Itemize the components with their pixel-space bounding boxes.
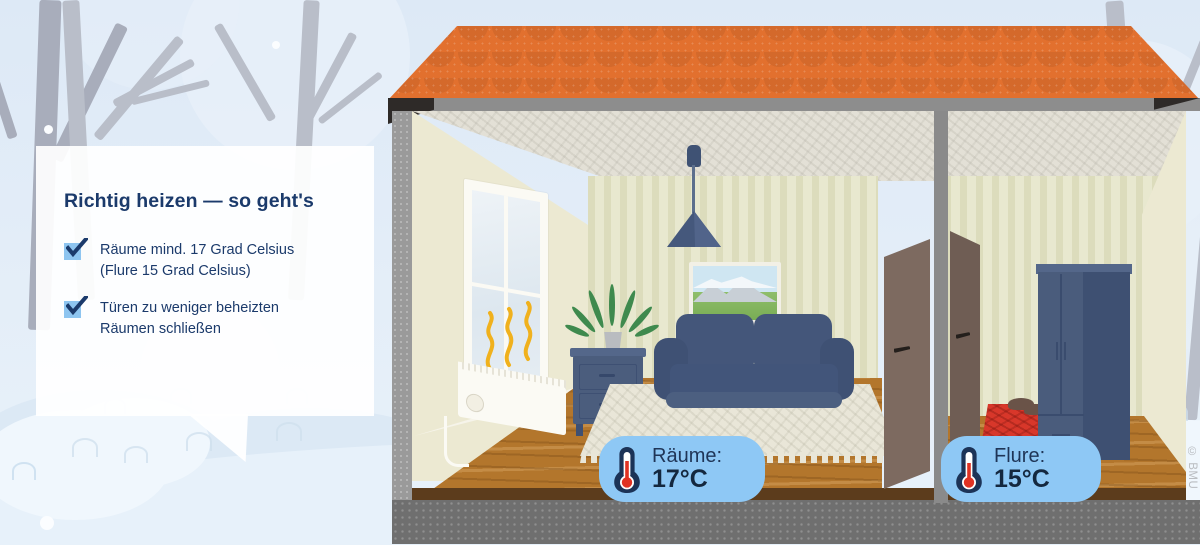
checklist-item-line2: (Flure 15 Grad Celsius): [100, 263, 251, 279]
thermometer-icon: [954, 445, 984, 493]
checkmark-icon: [66, 238, 88, 258]
badge-label: Räume:: [652, 446, 722, 466]
wardrobe-side: [1083, 272, 1130, 460]
nightstand-leg: [576, 424, 583, 436]
wardrobe-door-seam: [1060, 274, 1062, 414]
badge-value: 17°C: [652, 467, 722, 493]
badge-text: Flure: 15°C: [994, 446, 1050, 493]
potted-plant: [584, 284, 640, 356]
badge-text: Räume: 17°C: [652, 446, 722, 493]
nightstand-handle: [599, 374, 615, 377]
roof-fascia: [388, 98, 1200, 111]
wardrobe-handle[interactable]: [1064, 342, 1066, 360]
room-ceiling: [412, 111, 1186, 181]
checkbox[interactable]: [64, 243, 81, 260]
infographic-canvas: Richtig heizen — so geht's Räume mind. 1…: [0, 0, 1200, 545]
grass-tuft: [72, 438, 98, 457]
copyright-credit: © BMU: [1186, 446, 1198, 489]
checklist-item-line2: Räumen schließen: [100, 321, 221, 337]
checklist-item-text: Türen zu weniger beheizten Räumen schlie…: [100, 298, 279, 340]
radiator-pipe: [444, 416, 469, 467]
badge-value: 15°C: [994, 467, 1050, 493]
roof-texture: [388, 26, 1200, 100]
grass-tuft: [276, 422, 302, 441]
snow-dot: [272, 41, 280, 49]
sofa-base: [666, 392, 842, 408]
checklist: Räume mind. 17 Grad Celsius (Flure 15 Gr…: [64, 240, 364, 356]
wall-divider-column: [934, 111, 948, 503]
snow-dot: [40, 516, 54, 530]
thermometer-icon: [612, 445, 642, 493]
grass-tuft: [186, 432, 212, 451]
grass-tuft: [124, 446, 148, 463]
checklist-item-line1: Türen zu weniger beheizten: [100, 300, 279, 316]
house-foundation: [392, 500, 1200, 544]
checkmark-icon: [66, 296, 88, 316]
plant-leaf: [609, 284, 615, 326]
temperature-badge-hallway: Flure: 15°C: [941, 436, 1101, 502]
lamp-ceiling-mount: [687, 145, 701, 167]
exterior-wall-left: [392, 111, 412, 511]
checklist-item: Türen zu weniger beheizten Räumen schlie…: [64, 298, 364, 340]
checkbox[interactable]: [64, 301, 81, 318]
checklist-item-line1: Räume mind. 17 Grad Celsius: [100, 242, 294, 258]
grass-tuft: [12, 462, 36, 480]
house-roof: [388, 26, 1200, 100]
temperature-badge-rooms: Räume: 17°C: [599, 436, 765, 502]
lamp-rod: [692, 165, 695, 213]
wardrobe-drawer-seam: [1038, 414, 1084, 416]
badge-label: Flure:: [994, 446, 1050, 466]
page-title: Richtig heizen — so geht's: [64, 190, 364, 213]
wardrobe-handle[interactable]: [1056, 342, 1058, 360]
checklist-item: Räume mind. 17 Grad Celsius (Flure 15 Gr…: [64, 240, 364, 282]
living-room-door[interactable]: [884, 239, 930, 489]
sofa: [654, 314, 854, 410]
snow-dot: [44, 125, 53, 134]
checklist-item-text: Räume mind. 17 Grad Celsius (Flure 15 Gr…: [100, 240, 294, 282]
heat-waves-icon: [482, 291, 544, 371]
